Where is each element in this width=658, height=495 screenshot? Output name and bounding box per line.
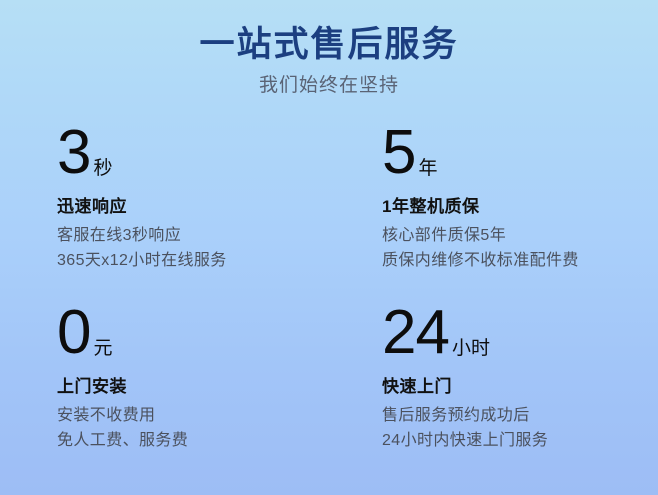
feature-detail-line: 核心部件质保5年 xyxy=(382,223,658,248)
after-sales-service-banner: 一站式售后服务 我们始终在坚持 3 秒 迅速响应 客服在线3秒响应 365天x1… xyxy=(0,0,658,495)
stat-number: 0 xyxy=(57,302,90,364)
feature-card-warranty: 5 年 1年整机质保 核心部件质保5年 质保内维修不收标准配件费 xyxy=(329,122,658,302)
stat-unit: 小时 xyxy=(452,339,490,358)
feature-heading: 快速上门 xyxy=(382,376,658,398)
stat-row: 5 年 xyxy=(382,122,658,188)
feature-detail-line: 客服在线3秒响应 xyxy=(57,223,329,248)
page-title: 一站式售后服务 xyxy=(0,24,658,66)
feature-detail-line: 365天x12小时在线服务 xyxy=(57,248,329,273)
feature-card-onsite-24h: 24 小时 快速上门 售后服务预约成功后 24小时内快速上门服务 xyxy=(329,302,658,482)
feature-detail-line: 质保内维修不收标准配件费 xyxy=(382,248,658,273)
feature-detail-line: 安装不收费用 xyxy=(57,403,329,428)
stat-number: 3 xyxy=(57,122,90,184)
stat-unit: 元 xyxy=(93,339,112,358)
stat-number: 24 xyxy=(382,302,449,364)
stat-unit: 秒 xyxy=(93,159,112,178)
stat-row: 3 秒 xyxy=(57,122,329,188)
feature-grid: 3 秒 迅速响应 客服在线3秒响应 365天x12小时在线服务 5 年 1年整机… xyxy=(0,122,658,482)
stat-unit: 年 xyxy=(418,159,437,178)
stat-number: 5 xyxy=(382,122,415,184)
feature-heading: 上门安装 xyxy=(57,376,329,398)
feature-detail-list: 客服在线3秒响应 365天x12小时在线服务 xyxy=(57,223,329,273)
feature-heading: 1年整机质保 xyxy=(382,196,658,218)
stat-row: 0 元 xyxy=(57,302,329,368)
feature-card-free-installation: 0 元 上门安装 安装不收费用 免人工费、服务费 xyxy=(0,302,329,482)
feature-heading: 迅速响应 xyxy=(57,196,329,218)
feature-detail-line: 免人工费、服务费 xyxy=(57,428,329,453)
stat-row: 24 小时 xyxy=(382,302,658,368)
feature-detail-line: 售后服务预约成功后 xyxy=(382,403,658,428)
banner-header: 一站式售后服务 我们始终在坚持 xyxy=(0,24,658,99)
page-subtitle: 我们始终在坚持 xyxy=(0,73,658,99)
feature-detail-line: 24小时内快速上门服务 xyxy=(382,428,658,453)
feature-detail-list: 安装不收费用 免人工费、服务费 xyxy=(57,403,329,453)
feature-detail-list: 售后服务预约成功后 24小时内快速上门服务 xyxy=(342,403,658,453)
feature-detail-list: 核心部件质保5年 质保内维修不收标准配件费 xyxy=(342,223,658,273)
feature-card-fast-response: 3 秒 迅速响应 客服在线3秒响应 365天x12小时在线服务 xyxy=(0,122,329,302)
